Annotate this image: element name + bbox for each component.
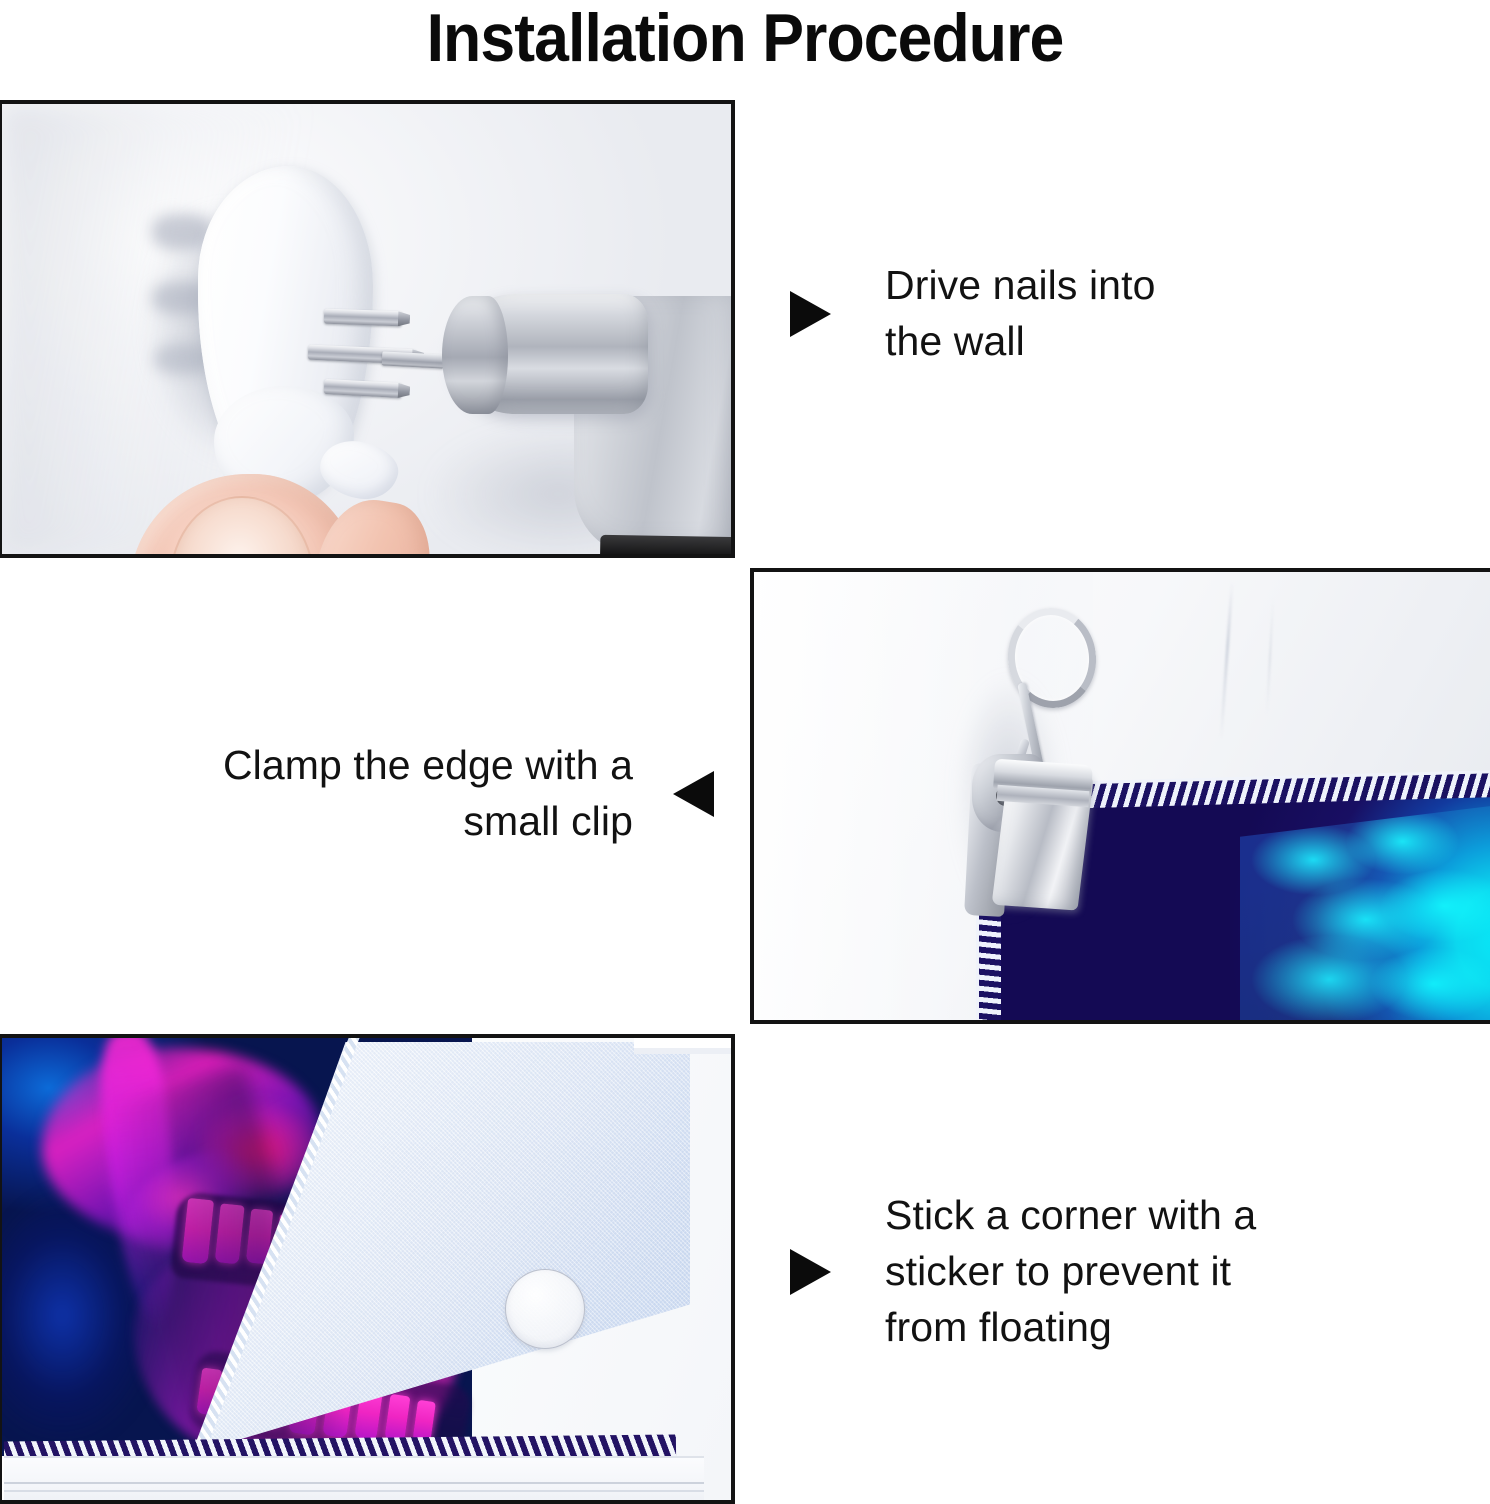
skull-tooth [384,1394,410,1442]
step-1-caption-text: Drive nails into the wall [885,258,1155,370]
wall-trim-line [4,1482,704,1484]
hammer-striking-face [442,296,508,414]
page-title: Installation Procedure [60,4,1431,72]
hammer-collar [600,535,731,554]
adhesive-sticker-dot [505,1269,585,1349]
step-3-caption: Stick a corner with a sticker to prevent… [790,1188,1380,1355]
nail-top [324,309,402,327]
wall-below-tapestry [4,1456,704,1500]
step-3-photo-content [2,1038,731,1500]
step-1-photo [0,100,735,558]
step-3-photo [0,1034,735,1504]
step-1-caption: Drive nails into the wall [790,258,1350,370]
step-2-caption-text: Clamp the edge with a small clip [223,738,633,850]
step-2-photo [750,568,1490,1024]
step-2-caption: Clamp the edge with a small clip [64,738,714,850]
wall-above-tapestry-shadow [634,1048,731,1054]
wall-trim-line [4,1490,704,1492]
step-3-caption-text: Stick a corner with a sticker to prevent… [885,1188,1256,1355]
tapestry-feather-pattern [1240,800,1490,1020]
triangle-left-icon [673,771,714,817]
triangle-right-icon [790,1249,831,1295]
step-2-photo-content [754,572,1490,1020]
step-1-photo-content [2,104,731,554]
triangle-right-icon [790,291,831,337]
